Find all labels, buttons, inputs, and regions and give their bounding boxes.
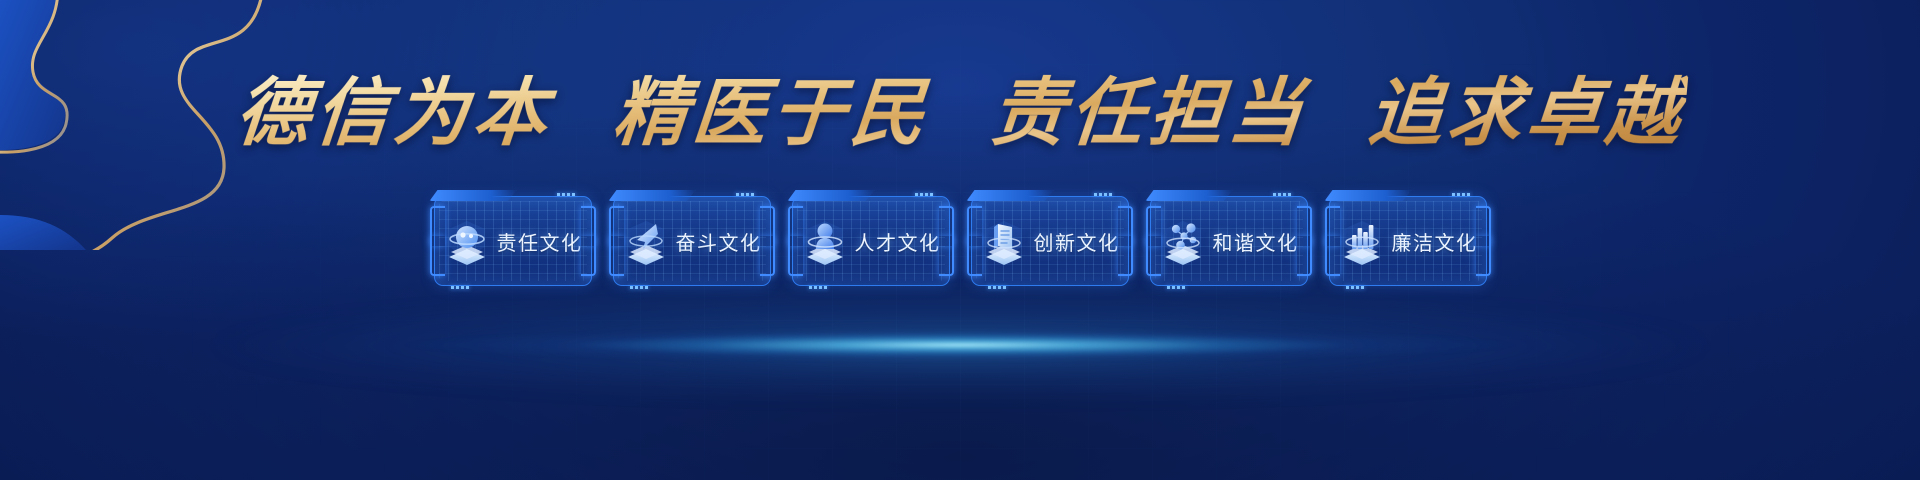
tick-dashes-top [736,193,754,196]
stage-glow-wide [180,286,1740,406]
stage-light-beam [400,322,1520,368]
culture-card-struggle[interactable]: 奋斗文化 [613,196,771,286]
culture-card-label: 人才文化 [855,227,941,256]
tick-dashes-top [1094,193,1112,196]
tick-dashes-top [915,193,933,196]
bar-pillars-icon [1336,215,1388,267]
tick-dashes-bottom [988,286,1006,289]
tick-dashes-top [1273,193,1291,196]
culture-card-label: 廉洁文化 [1392,227,1478,256]
tick-dashes-bottom [1167,286,1185,289]
tick-dashes-bottom [809,286,827,289]
culture-card-row: 责任文化 [0,196,1920,286]
arrow-up-rocket-icon [620,215,672,267]
culture-card-responsibility[interactable]: 责任文化 [434,196,592,286]
person-orbit-icon [799,215,851,267]
tick-dashes-top [1452,193,1470,196]
document-scroll-icon [978,215,1030,267]
culture-card-label: 责任文化 [497,227,583,256]
title-container: 德信为本 精医于民 责任担当 追求卓越 [0,72,1920,155]
banner-title: 德信为本 精医于民 责任担当 追求卓越 [232,72,1688,155]
culture-banner: 德信为本 精医于民 责任担当 追求卓越 [0,0,1920,480]
culture-card-integrity[interactable]: 廉洁文化 [1329,196,1487,286]
network-nodes-icon [1157,215,1209,267]
globe-orbit-icon [441,215,493,267]
culture-card-label: 创新文化 [1034,227,1120,256]
culture-card-harmony[interactable]: 和谐文化 [1150,196,1308,286]
culture-card-label: 和谐文化 [1213,227,1299,256]
tick-dashes-bottom [1346,286,1364,289]
tick-dashes-top [557,193,575,196]
culture-card-talent[interactable]: 人才文化 [792,196,950,286]
culture-card-label: 奋斗文化 [676,227,762,256]
tick-dashes-bottom [451,286,469,289]
culture-card-innovation[interactable]: 创新文化 [971,196,1129,286]
tick-dashes-bottom [630,286,648,289]
